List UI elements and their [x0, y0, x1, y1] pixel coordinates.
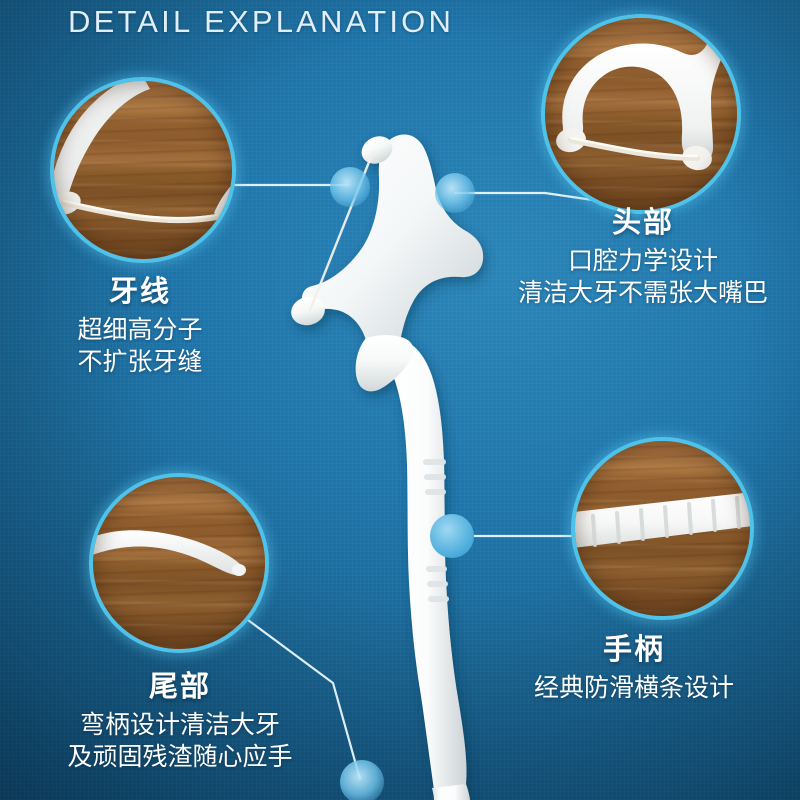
callout-text-head: 头部 口腔力学设计 清洁大牙不需张大嘴巴: [486, 199, 800, 309]
infographic-canvas: DETAIL EXPLANATION 牙线 超细高分子 不扩张牙缝: [0, 0, 800, 800]
callout-circle-head[interactable]: [541, 14, 741, 214]
callout-heading-tail: 尾部: [20, 663, 340, 705]
callout-text-floss: 牙线 超细高分子 不扩张牙缝: [20, 268, 260, 378]
callout-desc-handle-1: 经典防滑横条设计: [468, 672, 800, 704]
callout-circle-tail[interactable]: [89, 473, 269, 653]
floss-head-closeup-photo: [545, 18, 737, 210]
callout-desc-head-2: 清洁大牙不需张大嘴巴: [486, 277, 800, 309]
floss-tail-pick-closeup-photo: [93, 477, 265, 649]
floss-handle-ribs-closeup-photo: [575, 441, 750, 616]
callout-circle-floss[interactable]: [50, 77, 236, 263]
callout-heading-head: 头部: [486, 199, 800, 241]
callout-desc-head-1: 口腔力学设计: [486, 245, 800, 277]
callout-desc-tail-2: 及顽固残渣随心应手: [20, 741, 340, 773]
floss-thread-closeup-photo: [54, 81, 232, 259]
callout-desc-floss-2: 不扩张牙缝: [20, 346, 260, 378]
hotspot-head[interactable]: [435, 173, 475, 213]
callout-desc-floss-1: 超细高分子: [20, 314, 260, 346]
callout-text-tail: 尾部 弯柄设计清洁大牙 及顽固残渣随心应手: [20, 663, 340, 773]
callout-heading-floss: 牙线: [20, 268, 260, 310]
hotspot-tail[interactable]: [340, 760, 384, 800]
callout-circle-handle[interactable]: [571, 437, 754, 620]
hotspot-floss[interactable]: [330, 167, 370, 207]
hotspot-handle[interactable]: [430, 514, 474, 558]
callout-heading-handle: 手柄: [468, 626, 800, 668]
callout-text-handle: 手柄 经典防滑横条设计: [468, 626, 800, 704]
page-title: DETAIL EXPLANATION: [68, 4, 454, 40]
callout-desc-tail-1: 弯柄设计清洁大牙: [20, 709, 340, 741]
